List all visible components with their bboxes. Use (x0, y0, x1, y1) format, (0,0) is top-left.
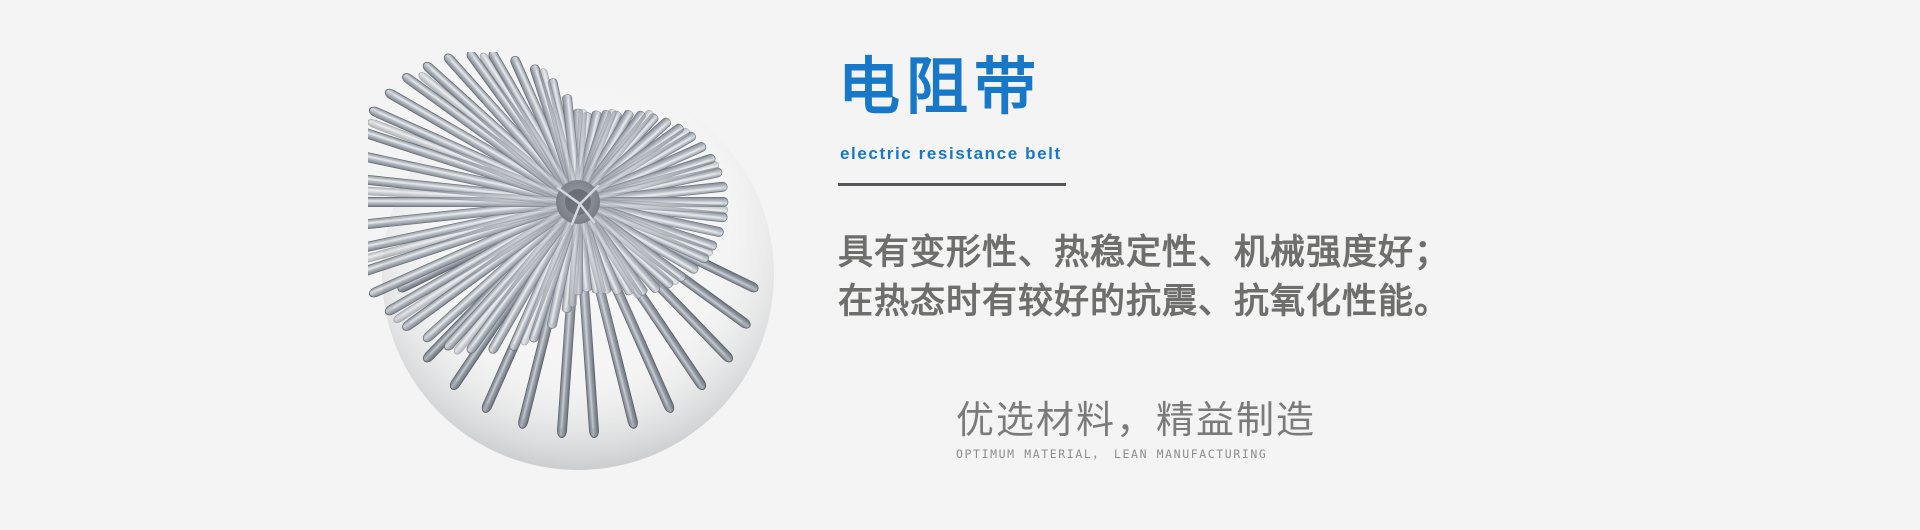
description-line-1: 具有变形性、热稳定性、机械强度好； (838, 228, 1498, 277)
title-divider (838, 183, 1066, 186)
tagline-english: OPTIMUM MATERIAL， LEAN MANUFACTURING (956, 447, 1376, 462)
tagline-block: 优选材料，精益制造 OPTIMUM MATERIAL， LEAN MANUFAC… (956, 396, 1376, 462)
tagline-chinese: 优选材料，精益制造 (956, 396, 1376, 446)
banner-content: 电阻带 electric resistance belt 具有变形性、热稳定性、… (838, 0, 1838, 530)
page-title: 电阻带 (838, 52, 1042, 124)
description-block: 具有变形性、热稳定性、机械强度好； 在热态时有较好的抗震、抗氧化性能。 (838, 228, 1498, 326)
product-banner: 电阻带 electric resistance belt 具有变形性、热稳定性、… (0, 0, 1920, 530)
page-subtitle: electric resistance belt (840, 142, 1062, 166)
description-line-2: 在热态时有较好的抗震、抗氧化性能。 (838, 277, 1498, 326)
product-image (368, 52, 788, 484)
